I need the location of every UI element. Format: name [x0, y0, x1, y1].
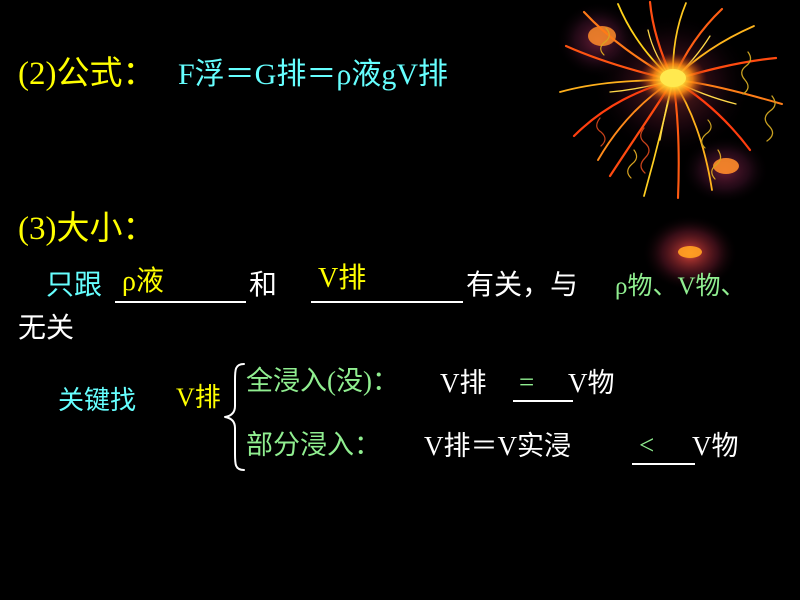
relation-text: 有关，与 — [466, 272, 578, 300]
case-1-expression: V排 — [440, 370, 487, 397]
independent-quantities-text: ρ物、V物、 — [615, 274, 746, 299]
case-2-expression: V排＝V实浸 — [424, 433, 571, 460]
formula-section-label: (2)公式： — [18, 58, 155, 91]
magnitude-section-label: (3)大小： — [18, 213, 155, 246]
fireworks-burst-image — [540, 0, 800, 200]
blank-underline-2 — [311, 301, 463, 303]
case-2-label: 部分浸入： — [246, 432, 381, 459]
case-2-blank-answer: < — [639, 432, 654, 459]
fireworks-glow-image — [600, 198, 800, 318]
depends-prefix-text: 只跟 — [46, 272, 102, 300]
key-point-prefix: 关键找 — [58, 388, 136, 414]
conjunction-text: 和 — [249, 272, 277, 300]
curly-brace-icon — [222, 362, 248, 472]
key-point-quantity: V排 — [176, 385, 221, 411]
blank-answer-volume-displaced: V排 — [318, 265, 366, 293]
presentation-slide: (2)公式： F浮＝G排＝ρ液gV排 (3)大小： 只跟 ρ液 和 V排 有关，… — [0, 0, 800, 600]
case-1-blank-underline — [513, 400, 573, 402]
case-2-blank-underline — [632, 463, 695, 465]
case-1-label: 全浸入(没)： — [246, 368, 399, 395]
blank-answer-density-liquid: ρ液 — [122, 268, 164, 296]
case-1-right-side: V物 — [568, 370, 615, 397]
irrelevant-text: 无关 — [18, 315, 74, 343]
buoyancy-formula: F浮＝G排＝ρ液gV排 — [178, 60, 448, 90]
blank-underline-1 — [115, 301, 246, 303]
case-2-right-side: V物 — [692, 433, 739, 460]
case-1-blank-answer: = — [519, 369, 534, 396]
